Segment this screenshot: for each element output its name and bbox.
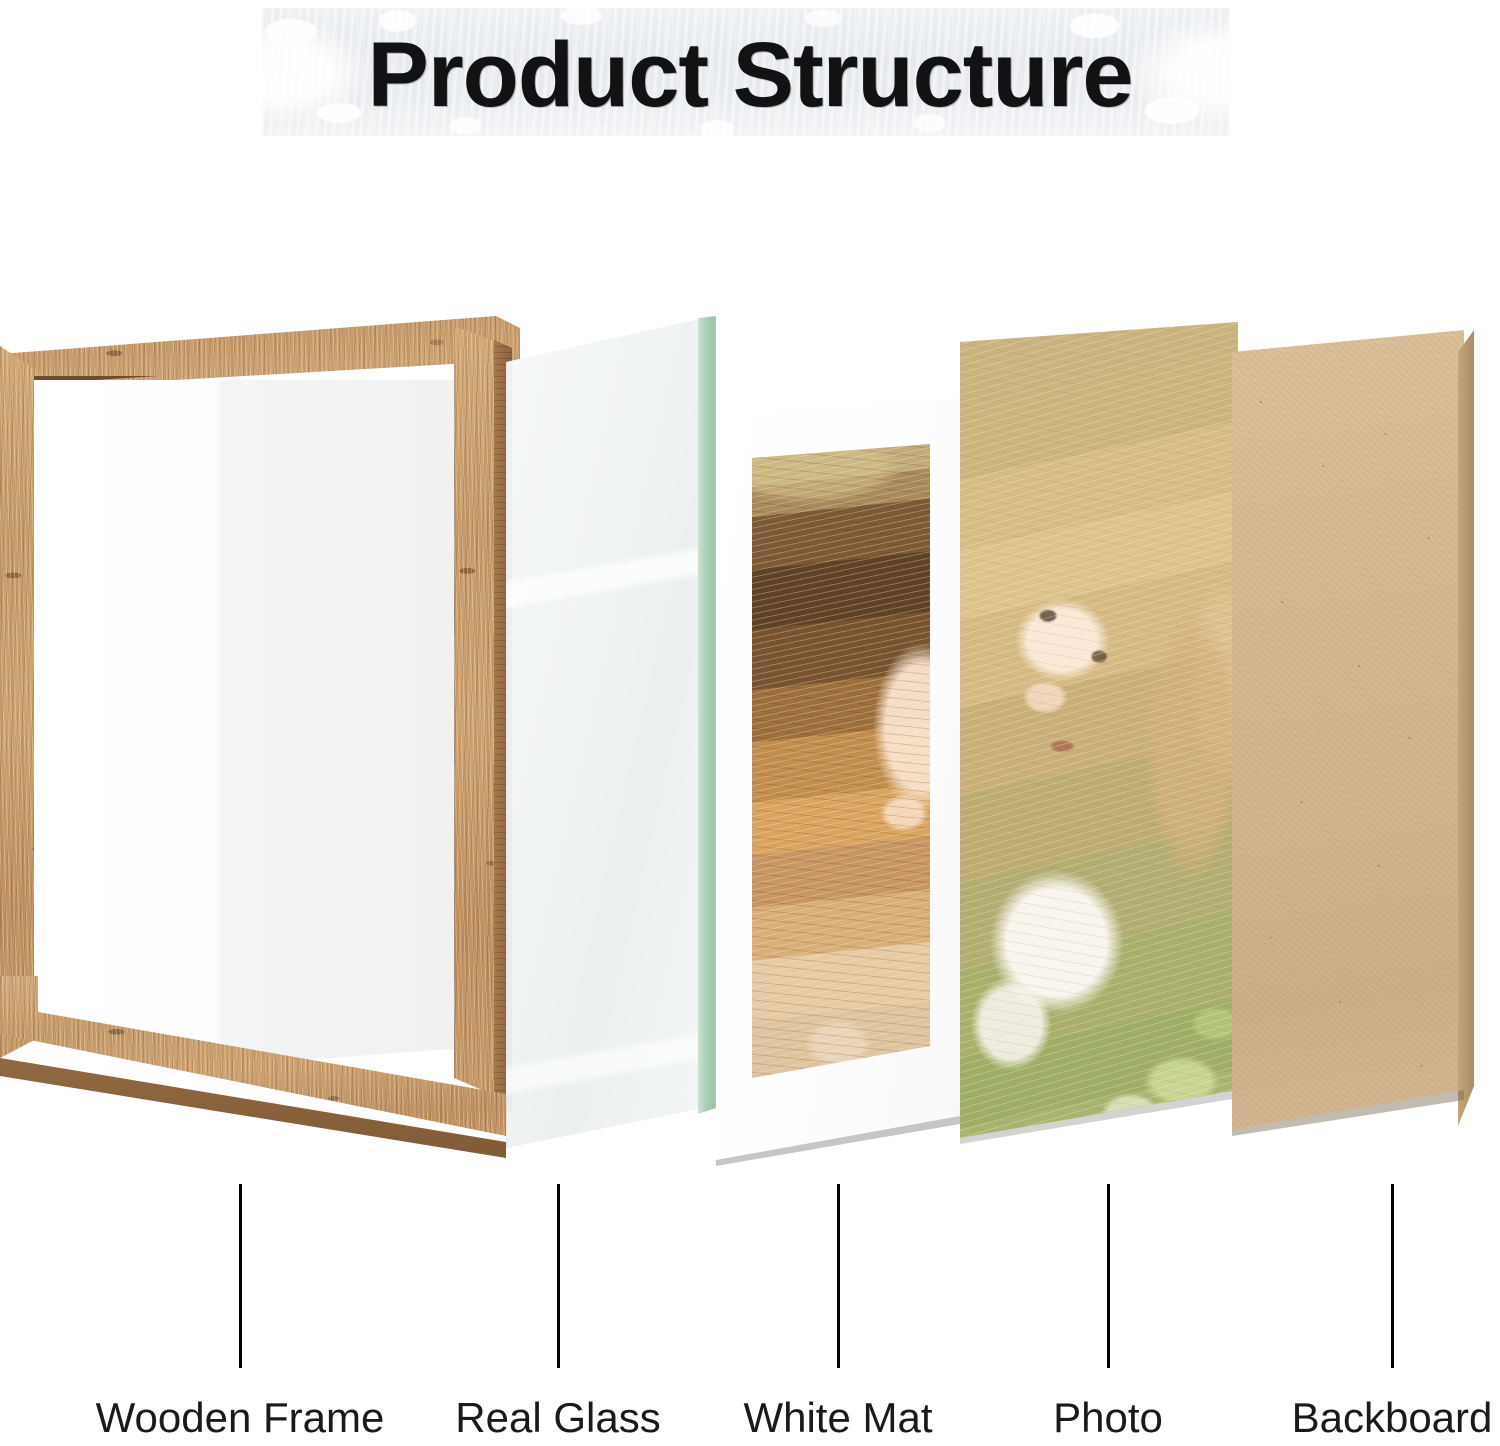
photo-child-image [960,322,1244,1138]
photo-print-face [960,322,1244,1138]
exploded-view-diagram: Wooden Frame Real Glass White Mat Photo … [0,0,1500,1446]
leader-line-photo [1107,1184,1110,1368]
frame-inner-white-area [34,380,464,1080]
glass-reflection-sheen [506,318,714,1148]
layer-wooden-frame [0,316,540,1186]
layer-backboard [1232,330,1500,1140]
layer-real-glass [506,318,746,1158]
mat-window-cutout [752,444,930,1078]
label-backboard: Backboard [1232,1390,1500,1446]
leader-line-white-mat [837,1184,840,1368]
backboard-face [1232,330,1472,1130]
page-title: Product Structure [0,0,1500,150]
leader-line-backboard [1391,1184,1394,1368]
photo-mother-image [752,444,930,1078]
label-wooden-frame: Wooden Frame [60,1390,420,1446]
layer-white-mat [716,398,986,1168]
layer-labels: Wooden Frame Real Glass White Mat Photo … [0,1390,1500,1446]
layer-photo [960,322,1260,1152]
leader-line-real-glass [557,1184,560,1368]
title-area: Product Structure [0,0,1500,150]
label-photo: Photo [988,1390,1228,1446]
label-white-mat: White Mat [688,1390,988,1446]
leader-line-wooden-frame [239,1184,242,1368]
backboard-right-depth-edge [1458,328,1482,1134]
label-real-glass: Real Glass [408,1390,708,1446]
